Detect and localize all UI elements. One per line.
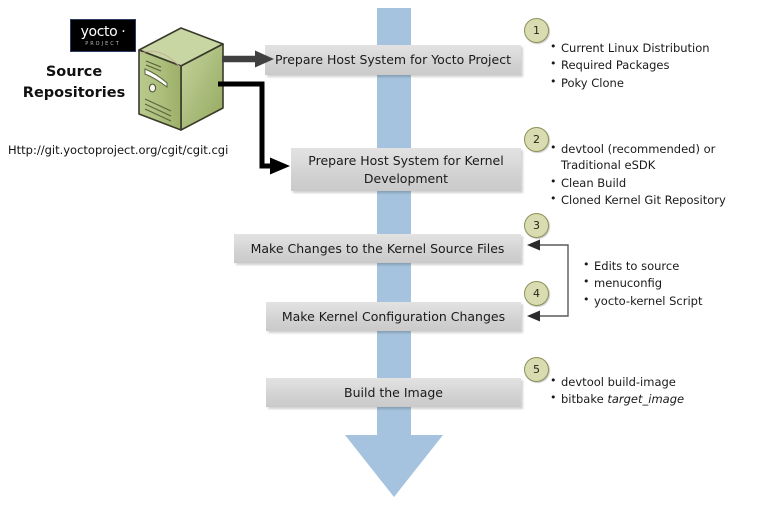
step-badge-4: 4 (524, 281, 549, 306)
note-item: menuconfig (583, 275, 763, 291)
process-box-step-3[interactable]: Make Changes to the Kernel Source Files (234, 234, 521, 263)
note-item: Current Linux Distribution (550, 40, 765, 56)
step-badge-1: 1 (524, 18, 549, 43)
notes-step-2: devtool (recommended) or Traditional eSD… (550, 141, 762, 209)
note-item: bitbake target_image (550, 391, 750, 407)
source-repository-url: Http://git.yoctoproject.org/cgit/cgit.cg… (8, 143, 228, 157)
step-badge-5-number: 5 (533, 363, 540, 376)
note-item: Clean Build (550, 175, 762, 191)
source-title-line2: Repositories (14, 83, 134, 104)
step-badge-5: 5 (524, 357, 549, 382)
process-box-step-2-label-line1: Prepare Host System for Kernel (308, 152, 503, 169)
source-repositories-title: Source Repositories (14, 62, 134, 104)
process-box-step-2-label-line2: Development (364, 170, 448, 187)
yocto-logo-wordmark: yocto · (71, 24, 135, 40)
note-item: Poky Clone (550, 75, 765, 91)
note-item: Edits to source (583, 258, 763, 274)
process-box-step-4[interactable]: Make Kernel Configuration Changes (266, 302, 521, 331)
step-badge-1-number: 1 (533, 24, 540, 37)
notes-step-1: Current Linux Distribution Required Pack… (550, 40, 765, 92)
note-item: yocto-kernel Script (583, 293, 763, 309)
note-item: devtool (recommended) or Traditional eSD… (550, 141, 762, 174)
note-item-emphasis: target_image (607, 392, 684, 406)
step-badge-2-number: 2 (533, 133, 540, 146)
process-box-step-5[interactable]: Build the Image (266, 378, 521, 407)
note-item: Required Packages (550, 57, 765, 73)
note-item: Cloned Kernel Git Repository (550, 192, 762, 208)
yocto-project-logo: yocto · PROJECT (70, 19, 136, 52)
flow-arrowhead-icon (345, 435, 443, 497)
step-badge-3-number: 3 (533, 219, 540, 232)
process-box-step-4-label: Make Kernel Configuration Changes (282, 308, 505, 325)
step-badge-4-number: 4 (533, 287, 540, 300)
notes-step-5: devtool build-image bitbake target_image (550, 374, 750, 409)
notes-steps-3-4: Edits to source menuconfig yocto-kernel … (583, 258, 763, 310)
process-box-step-3-label: Make Changes to the Kernel Source Files (251, 240, 505, 257)
source-title-line1: Source (14, 62, 134, 83)
process-box-step-1[interactable]: Prepare Host System for Yocto Project (265, 45, 521, 75)
server-tower-icon (135, 26, 227, 136)
note-item-prefix: bitbake (561, 392, 607, 406)
step-badge-3: 3 (524, 213, 549, 238)
yocto-logo-subtext: PROJECT (71, 41, 135, 47)
connector-source-to-step2 (218, 78, 296, 178)
process-box-step-2[interactable]: Prepare Host System for Kernel Developme… (291, 148, 521, 191)
step-badge-2: 2 (524, 127, 549, 152)
diagram-canvas: yocto · PROJECT Source Repositories Http… (0, 0, 769, 517)
note-item: devtool build-image (550, 374, 750, 390)
process-box-step-1-label: Prepare Host System for Yocto Project (275, 51, 511, 68)
process-box-step-5-label: Build the Image (344, 384, 443, 401)
connector-source-to-step1 (222, 48, 278, 70)
